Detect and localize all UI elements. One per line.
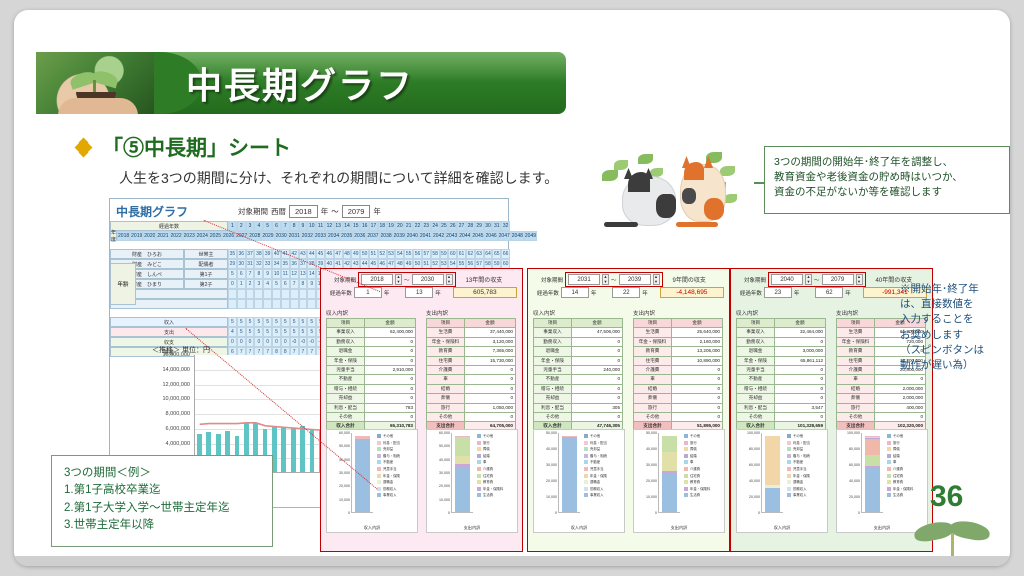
row-value: 0 [672,394,723,403]
expense-breakdown-caption: 支出内訳 [836,309,858,317]
period-label: 対象期間 [533,276,563,284]
chart-y-axis: 50,00040,00030,00020,00010,0000 [635,433,657,513]
legend-item: 住宅費 [887,473,927,480]
table-row: 利息・配当783 [327,403,416,412]
legend-item: 年金・保険料 [684,486,724,493]
row-value: 0 [875,375,926,384]
period-controls: 対象期間2040▲▼～2079▲▼40年間の収支経過年数23年62年-991,3… [736,273,927,305]
row-value: 0 [775,375,826,384]
row-value: 62,400,000 [365,328,416,337]
row-label: 葬儀 [634,394,672,403]
stacked-bar [861,433,883,513]
table-row: 児童手当240,000 [534,366,623,375]
income-breakdown-chart: 60,00050,00040,00030,00020,00010,0000その他… [326,429,418,533]
legend-item: 年金・保険料 [477,486,517,493]
row-label: 退職金 [534,347,572,356]
row-value: 0 [572,384,623,393]
start-year-spinner[interactable]: ▲▼ [805,274,812,285]
row-label: 介護費 [634,366,672,375]
legend-item: 車 [477,459,517,466]
year-unit: 年 [845,289,851,297]
table-row: その他0 [427,413,516,422]
expense-breakdown-chart: 60,00050,00040,00030,00020,00010,0000その他… [426,429,518,533]
legend-item: 葬儀 [887,446,927,453]
chart-y-axis: 50,00040,00030,00020,00010,0000 [535,433,557,513]
row-label: 事業収入 [327,328,365,337]
row-label-fiscal: 年度 [110,231,117,241]
table-row: 住宅費15,730,000 [427,356,516,365]
example-note-item-1: 1.第1子高校卒業迄 [64,482,260,499]
elapsed-cells: 1234567891011121314151617181920212223242… [228,221,510,231]
table-row: 葬儀0 [427,394,516,403]
start-year-input[interactable]: 2040 [771,274,803,285]
table-row: 旅行1,050,000 [427,403,516,412]
chart-y-axis: 100,00080,00060,00040,00020,0000 [838,433,860,513]
table-row: 年金・保険65,861,112 [737,356,826,365]
table-row: 旅行0 [634,403,723,412]
table-row: その他0 [327,413,416,422]
elapsed-start-value: 14 [561,287,589,298]
end-year-input[interactable]: 2079 [822,274,854,285]
table-row: 介護費0 [634,366,723,375]
row-value: 0 [572,413,623,422]
table-row: 不動産0 [534,375,623,384]
row-label: 年金・保険料 [837,337,875,346]
row-label: 贈与・相続 [737,384,775,393]
table-row: 葬儀0 [634,394,723,403]
row-value: 2,160,000 [672,337,723,346]
stacked-bar [558,433,580,513]
table-row: 介護費0 [427,366,516,375]
row-value: 13,205,000 [672,347,723,356]
table-row: 贈与・相続0 [327,384,416,393]
callout-line-3: 資金の不足がないか等を確認します [774,185,1000,200]
row-label: 事業収入 [534,328,572,337]
period-year-frame: 2040▲▼～2079▲▼ [768,272,866,287]
example-note-box: 3つの期間＜例＞ 1.第1子高校卒業迄 2.第1子大学入学～世帯主定年迄 3.世… [51,455,273,547]
legend-item: その他 [377,433,417,440]
example-note-item-3: 3.世帯主定年以降 [64,517,260,534]
row-label: 不動産 [737,375,775,384]
legend-item: 年金・保険 [377,473,417,480]
table-row: 年金・保険0 [327,356,416,365]
cats-illustration [600,142,762,242]
member-1-ages: 3536373839404142434445464748495051525354… [228,249,510,259]
expense-breakdown-chart: 50,00040,00030,00020,00010,0000その他旅行葬儀結婚… [633,429,725,533]
bar-segment [765,485,780,487]
row-label: 教育費 [837,347,875,356]
spin-note-line-5: （スピンボタンは [900,343,1010,358]
start-year-input[interactable]: 2031 [568,274,600,285]
bar-segment [662,452,677,471]
expense-breakdown-caption: 支出内訳 [426,309,448,317]
bar-segment [865,466,880,467]
row-value: 0 [365,394,416,403]
row-value: 0 [672,375,723,384]
row-value: 0 [672,384,723,393]
table-row: 旅行400,000 [837,403,926,412]
table-row: 車0 [427,375,516,384]
row-label: その他 [634,413,672,422]
row-label: 生活費 [427,328,465,337]
example-note-item-2: 2.第1子大学入学～世帯主定年迄 [64,500,260,517]
row-label: 旅行 [634,403,672,412]
row-label: その他 [327,413,365,422]
legend-item: 勤務収入 [584,486,624,493]
row-label: 贈与・相続 [534,384,572,393]
row-value: 0 [365,356,416,365]
legend-item: その他 [584,433,624,440]
year-unit-2: 年 [373,206,381,217]
legend-item: 住宅費 [477,473,517,480]
table-row: 結婚2,000,000 [837,384,926,393]
spin-note-line-3: 入力することを [900,312,1010,327]
row-value: 400,000 [875,403,926,412]
legend-item: その他 [477,433,517,440]
chart-caption: 収入内訳 [327,525,417,531]
year-unit: 年 [642,289,648,297]
row-label: 利息・配当 [737,403,775,412]
income-breakdown-caption: 収入内訳 [533,309,555,317]
sprout-photo-icon [36,52,154,114]
column-header: 項目 [737,319,775,328]
table-row: 結婚0 [427,384,516,393]
table-row: 退職金0 [327,347,416,356]
row-value: 2,910,000 [365,366,416,375]
chart-legend: その他利息・配当売却益贈与・相続不動産児童手当年金・保険退職金勤務収入事業収入 [584,433,624,499]
row-value: 32,464,000 [775,328,826,337]
diamond-bullet-icon [76,139,92,155]
expense-breakdown-table: 項目金額生活費37,440,000年金・保険料3,120,000教育費7,365… [426,318,516,432]
legend-item: 葬儀 [477,446,517,453]
legend-item: 教育費 [887,479,927,486]
legend-item: 年金・保険 [787,473,827,480]
row-label: 売却益 [327,394,365,403]
legend-item: 贈与・相続 [787,453,827,460]
table-row: 事業収入32,464,000 [737,328,826,337]
bar-segment [562,436,577,512]
title-banner: 中長期グラフ [36,52,566,114]
row-label: 旅行 [837,403,875,412]
table-row: 勤務収入0 [327,337,416,346]
callout-line-1: 3つの期間の開始年･終了年を調整し、 [774,155,1000,170]
spreadsheet-period-control: 対象期間 西暦 2018 年 ～ 2079 年 [238,205,381,218]
chart-caption: 収入内訳 [737,525,827,531]
row-value: 0 [672,403,723,412]
column-header: 金額 [465,319,516,328]
legend-item: 介護費 [477,466,517,473]
year-unit: 年 [435,289,441,297]
row-label: 介護費 [427,366,465,375]
stacked-bar [761,433,783,513]
row-value: 0 [775,394,826,403]
period-end-year-input[interactable]: 2079 [342,205,371,218]
row-value: 0 [465,375,516,384]
bar-segment [455,437,470,455]
row-label: 車 [837,375,875,384]
legend-item: 事業収入 [584,492,624,499]
table-row: 贈与・相続0 [534,384,623,393]
legend-item: 退職金 [377,479,417,486]
row-label: 年金・保険 [534,356,572,365]
stacked-bar [658,433,680,513]
row-value: 0 [465,366,516,375]
legend-item: 不動産 [377,459,417,466]
table-row: 利息・配当305 [534,403,623,412]
legend-item: 教育費 [477,479,517,486]
column-header: 金額 [775,319,826,328]
legend-item: 利息・配当 [377,440,417,447]
row-label: 不動産 [534,375,572,384]
column-header: 項目 [427,319,465,328]
table-row: 売却益0 [534,394,623,403]
bar-segment [455,456,470,465]
row-label: その他 [737,413,775,422]
period-total-value: 605,783 [453,287,517,298]
row-value: 15,730,000 [465,356,516,365]
chart-legend: その他旅行葬儀結婚車介護費住宅費教育費年金・保険料生活費 [684,433,724,499]
year-unit: 年 [384,289,390,297]
end-year-spinner[interactable]: ▲▼ [446,274,453,285]
period-panel-1[interactable]: 対象期間2018▲▼～2030▲▼13年間の収支経過年数1年13年605,783… [320,268,523,552]
table-row: 退職金3,000,000 [737,347,826,356]
table-row: その他0 [634,413,723,422]
row-value: 783 [365,403,416,412]
legend-item: 旅行 [684,440,724,447]
row-value: 1,050,000 [465,403,516,412]
chart-y-axis: 60,00050,00040,00030,00020,00010,0000 [328,433,350,513]
row-value: 37,440,000 [465,328,516,337]
elapsed-end-value: 13 [405,287,433,298]
age-group-label: 年齢 [110,263,136,305]
table-row: その他0 [837,413,926,422]
row-value: 0 [465,384,516,393]
table-row: 不動産0 [737,375,826,384]
column-header: 金額 [672,319,723,328]
row-value: 2,000,000 [875,394,926,403]
legend-item: 児童手当 [584,466,624,473]
row-label: 事業収入 [737,328,775,337]
row-label: 結婚 [837,384,875,393]
era-label: 西暦 [271,206,286,217]
elapsed-start-value: 23 [764,287,792,298]
chart-legend: その他旅行葬儀結婚車介護費住宅費教育費年金・保険料生活費 [477,433,517,499]
row-value: 0 [672,413,723,422]
legend-item: 売却益 [787,446,827,453]
row-value: 65,861,112 [775,356,826,365]
spin-note-line-2: は、直接数値を [900,297,1010,312]
column-header: 金額 [365,319,416,328]
legend-item: その他 [787,433,827,440]
row-value: 3,120,000 [465,337,516,346]
row-value: 0 [572,337,623,346]
row-label: 勤務収入 [534,337,572,346]
year-unit: 年 [591,289,597,297]
row-value: 0 [365,413,416,422]
row-value: 7,365,000 [465,347,516,356]
chart-caption: 支出内訳 [427,525,517,531]
bar-segment [865,455,880,466]
period-tilde: ～ [331,206,339,217]
callout-line-2: 教育資金や老後資金の貯め時はいつか、 [774,170,1000,185]
table-row: 住宅費10,890,000 [634,356,723,365]
spreadsheet-title: 中長期グラフ [116,203,188,220]
legend-item: 生活費 [477,492,517,499]
income-breakdown-chart: 50,00040,00030,00020,00010,0000その他利息・配当売… [533,429,625,533]
end-year-spinner[interactable]: ▲▼ [653,274,660,285]
legend-item: 児童手当 [787,466,827,473]
row-label: 車 [634,375,672,384]
row-label: 退職金 [327,347,365,356]
chart-legend: その他利息・配当売却益贈与・相続不動産児童手当年金・保険退職金勤務収入事業収入 [377,433,417,499]
row-label: 旅行 [427,403,465,412]
end-year-input[interactable]: 2030 [412,274,444,285]
row-label: 年金・保険 [327,356,365,365]
row-label: 勤務収入 [327,337,365,346]
bar-segment [355,436,370,439]
table-row: 児童手当0 [737,366,826,375]
legend-item: 売却益 [584,446,624,453]
row-label: 葬儀 [837,394,875,403]
income-breakdown-chart: 100,00080,00060,00040,00020,0000その他利息・配当… [736,429,828,533]
period-controls: 対象期間2031▲▼～2039▲▼9年間の収支経過年数14年22年-4,148,… [533,273,724,305]
spin-note-line-4: お奨めします [900,328,1010,343]
elapsed-years-label: 経過年数 [736,289,762,297]
table-row: その他0 [534,413,623,422]
row-label: 贈与・相続 [327,384,365,393]
legend-item: 勤務収入 [787,486,827,493]
row-label: その他 [534,413,572,422]
chart-y-axis: 100,00080,00060,00040,00020,0000 [738,433,760,513]
row-label: 生活費 [837,328,875,337]
income-breakdown-table: 項目金額事業収入62,400,000勤務収入0退職金0年金・保険0児童手当2,9… [326,318,416,432]
row-value: 0 [465,413,516,422]
legend-item: 年金・保険 [584,473,624,480]
row-label: 教育費 [634,347,672,356]
bar-segment [765,436,780,485]
row-value: 0 [572,394,623,403]
bar-segment [662,436,677,452]
row-label: 売却益 [737,394,775,403]
row-label: 児童手当 [327,366,365,375]
table-row: その他0 [737,413,826,422]
legend-item: 売却益 [377,446,417,453]
year-range-tilde: ～ [404,276,410,284]
row-value: 0 [572,375,623,384]
table-row: 葬儀2,000,000 [837,394,926,403]
row-value: 3,000,000 [775,347,826,356]
legend-item: 車 [684,459,724,466]
income-breakdown-caption: 収入内訳 [736,309,758,317]
table-row: 車0 [837,375,926,384]
table-row: 事業収入47,506,000 [534,328,623,337]
income-breakdown-table: 項目金額事業収入32,464,000勤務収入0退職金3,000,000年金・保険… [736,318,826,432]
member-1-role: 世帯主 [184,249,228,259]
row-label: 年金・保険 [737,356,775,365]
legend-item: 利息・配当 [787,440,827,447]
row-label: 教育費 [427,347,465,356]
table-row: 教育費13,205,000 [634,347,723,356]
row-value: 0 [365,347,416,356]
legend-item: その他 [887,433,927,440]
row-value: 0 [875,413,926,422]
row-label: 利息・配当 [534,403,572,412]
row-member-1: 財産 ひろお 世帯主 35363738394041424344454647484… [110,249,510,259]
start-year-spinner[interactable]: ▲▼ [395,274,402,285]
year-range-tilde: ～ [814,276,820,284]
table-row: 不動産0 [327,375,416,384]
legend-item: 生活費 [887,492,927,499]
section-heading: 「⑤中長期」シート [76,132,291,162]
table-row: 売却益0 [737,394,826,403]
column-header: 項目 [634,319,672,328]
member-4-role: 第2子 [184,279,228,289]
row-value: 0 [572,356,623,365]
table-row: 売却益0 [327,394,416,403]
row-label: 住宅費 [837,356,875,365]
stacked-bar [451,433,473,513]
bottom-strip [14,556,1010,566]
start-year-spinner[interactable]: ▲▼ [602,274,609,285]
row-label: 児童手当 [737,366,775,375]
legend-item: 結婚 [887,453,927,460]
period-total-label: 9年間の収支 [673,275,706,284]
period-label: 対象期間 [238,206,268,217]
legend-item: 不動産 [584,459,624,466]
legend-item: 勤務収入 [377,486,417,493]
bar-segment [765,488,780,512]
chart-caption: 収入内訳 [534,525,624,531]
row-value: 0 [775,384,826,393]
row-value: 25,640,000 [672,328,723,337]
spin-note-line-6: 動作が遅い為） [900,358,1010,373]
chart-legend: その他利息・配当売却益贈与・相続不動産児童手当年金・保険退職金勤務収入事業収入 [787,433,827,499]
legend-item: 車 [887,459,927,466]
row-label: 結婚 [427,384,465,393]
page-number: 36 [930,480,963,514]
year-unit-1: 年 [321,206,329,217]
row-value: 0 [572,347,623,356]
table-row: 生活費37,440,000 [427,328,516,337]
elapsed-end-value: 62 [815,287,843,298]
table-row: 勤務収入0 [534,337,623,346]
elapsed-years-label: 経過年数 [326,289,352,297]
legend-item: 結婚 [477,453,517,460]
period-start-year-input[interactable]: 2018 [289,205,318,218]
bar-segment [662,471,677,474]
column-header: 項目 [534,319,572,328]
end-year-input[interactable]: 2039 [619,274,651,285]
period-year-frame: 2018▲▼～2030▲▼ [358,272,456,287]
member-2-role: 配偶者 [184,259,228,269]
table-row: 贈与・相続0 [737,384,826,393]
row-value: 3,547 [775,403,826,412]
chart-legend: その他旅行葬儀結婚車介護費住宅費教育費年金・保険料生活費 [887,433,927,499]
row-value: 0 [365,337,416,346]
row-label: 生活費 [634,328,672,337]
legend-item: 退職金 [787,479,827,486]
period-panel-2[interactable]: 対象期間2031▲▼～2039▲▼9年間の収支経過年数14年22年-4,148,… [527,268,730,552]
period-total-label: 13年間の収支 [466,275,503,284]
end-year-spinner[interactable]: ▲▼ [856,274,863,285]
row-label: その他 [837,413,875,422]
period-label: 対象期間 [736,276,766,284]
table-row: 生活費25,640,000 [634,328,723,337]
start-year-input[interactable]: 2018 [361,274,393,285]
bar-segment [865,436,880,437]
row-label: 住宅費 [634,356,672,365]
bar-segment [455,436,470,437]
